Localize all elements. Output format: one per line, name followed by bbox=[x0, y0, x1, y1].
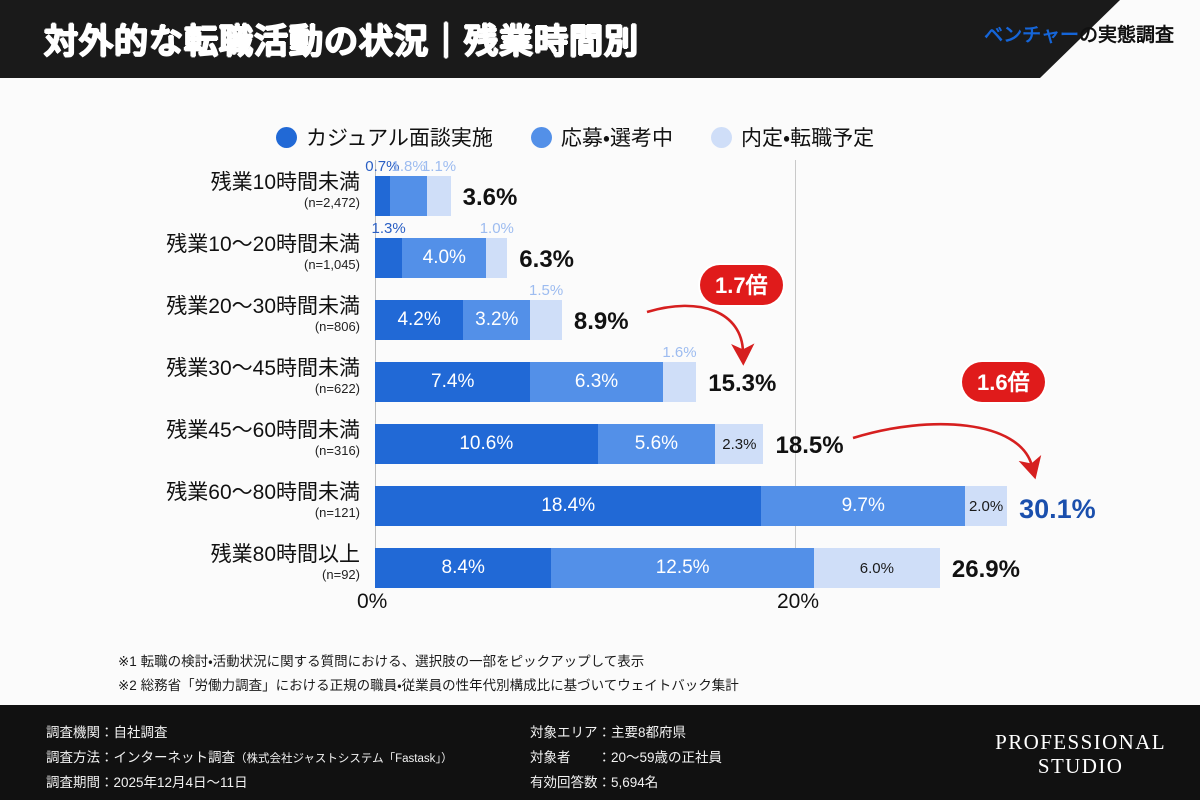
legend-dot-icon bbox=[711, 127, 732, 148]
legend-dot-icon bbox=[531, 127, 552, 148]
bar-segment[interactable]: 4.0% bbox=[402, 238, 486, 278]
footnotes: ※1 転職の検討・活動状況に関する質問における、選択肢の一部をピックアップして表… bbox=[118, 650, 739, 697]
category-label: 残業30〜45時間未満(n=622) bbox=[60, 358, 360, 396]
bar-segment[interactable]: 1.0% bbox=[486, 238, 507, 278]
category-sample-size: (n=1,045) bbox=[60, 258, 360, 272]
footnote: ※1 転職の検討・活動状況に関する質問における、選択肢の一部をピックアップして表… bbox=[118, 650, 739, 674]
bar-segment[interactable]: 2.3% bbox=[715, 424, 763, 464]
bar-segment[interactable]: 2.0% bbox=[965, 486, 1007, 526]
category-label: 残業60〜80時間未満(n=121) bbox=[60, 482, 360, 520]
legend-dot-icon bbox=[276, 127, 297, 148]
bar-row: 10.6%5.6%2.3%18.5% bbox=[375, 408, 1135, 470]
category-label-text: 残業30〜45時間未満 bbox=[60, 358, 360, 380]
category-sample-size: (n=806) bbox=[60, 320, 360, 334]
stacked-bar[interactable]: 7.4%6.3%1.6% bbox=[375, 362, 696, 402]
footer-info-row: 調査機関：自社調査 bbox=[46, 721, 453, 746]
bar-segment[interactable]: 9.7% bbox=[761, 486, 965, 526]
footer-info-key: 調査期間： bbox=[46, 775, 114, 790]
category-sample-size: (n=92) bbox=[60, 568, 360, 582]
footnote: ※2 総務省「労働力調査」における正規の職員・従業員の性年代別構成比に基づいてウ… bbox=[118, 674, 739, 698]
bar-row: 0.7%1.8%1.1%3.6% bbox=[375, 160, 1135, 222]
footer-info-row: 有効回答数：5,694名 bbox=[530, 771, 722, 796]
bar-total-label: 30.1% bbox=[1019, 494, 1096, 525]
category-label: 残業20〜30時間未満(n=806) bbox=[60, 296, 360, 334]
bar-segment[interactable]: 18.4% bbox=[375, 486, 761, 526]
category-sample-size: (n=121) bbox=[60, 506, 360, 520]
bar-segment[interactable]: 5.6% bbox=[598, 424, 716, 464]
category-label: 残業80時間以上(n=92) bbox=[60, 544, 360, 582]
footer-left-column: 調査機関：自社調査調査方法：インターネット調査（株式会社ジャストシステム「Fas… bbox=[46, 721, 453, 796]
category-label: 残業10〜20時間未満(n=1,045) bbox=[60, 234, 360, 272]
page-title: 対外的な転職活動の状況｜残業時間別 bbox=[44, 14, 639, 63]
footer-info-value: 主要8都府県 bbox=[611, 725, 686, 740]
infographic-page: 対外的な転職活動の状況｜残業時間別 ベンチャーの実態調査 カジュアル面談実施応募… bbox=[0, 0, 1200, 800]
legend-item: カジュアル面談実施 bbox=[276, 122, 493, 152]
category-sample-size: (n=2,472) bbox=[60, 196, 360, 210]
stacked-bar[interactable]: 18.4%9.7%2.0% bbox=[375, 486, 1007, 526]
bar-segment[interactable]: 12.5% bbox=[551, 548, 814, 588]
callout-badge-1: 1.7倍 bbox=[700, 265, 783, 305]
brand-logo-line2: STUDIO bbox=[995, 755, 1166, 779]
brand-logo-line1: PROFESSIONAL bbox=[995, 731, 1166, 755]
footer-band: 調査機関：自社調査調査方法：インターネット調査（株式会社ジャストシステム「Fas… bbox=[0, 705, 1200, 800]
footer-info-key: 対象者 ： bbox=[530, 750, 611, 765]
footer-info-value: 2025年12月4日〜11日 bbox=[114, 775, 248, 790]
bar-total-label: 18.5% bbox=[776, 432, 844, 460]
footer-info-value: 20〜59歳の正社員 bbox=[611, 750, 722, 765]
category-sample-size: (n=316) bbox=[60, 444, 360, 458]
bar-segment[interactable]: 6.0% bbox=[814, 548, 940, 588]
category-label-text: 残業45〜60時間未満 bbox=[60, 420, 360, 442]
bar-total-label: 6.3% bbox=[519, 246, 574, 274]
footer-info-value: インターネット調査 bbox=[114, 750, 236, 765]
bar-segment[interactable]: 1.6% bbox=[663, 362, 697, 402]
footer-info-value: 自社調査 bbox=[114, 725, 168, 740]
footer-info-key: 対象エリア： bbox=[530, 725, 611, 740]
header-subtitle-highlight: ベンチャー bbox=[984, 25, 1079, 46]
bar-segment[interactable]: 1.1% bbox=[427, 176, 450, 216]
stacked-bar[interactable]: 8.4%12.5%6.0% bbox=[375, 548, 940, 588]
bar-total-label: 3.6% bbox=[463, 184, 518, 212]
category-label: 残業45〜60時間未満(n=316) bbox=[60, 420, 360, 458]
legend-label: カジュアル面談実施 bbox=[306, 122, 493, 152]
footer-info-row: 調査方法：インターネット調査（株式会社ジャストシステム「Fastask」） bbox=[46, 746, 453, 771]
bar-segment[interactable]: 1.5% bbox=[530, 300, 562, 340]
x-axis-tick-label: 0% bbox=[357, 590, 387, 614]
footer-info-value: 5,694名 bbox=[611, 775, 658, 790]
footer-info-key: 調査方法： bbox=[46, 750, 114, 765]
bar-segment[interactable]: 8.4% bbox=[375, 548, 551, 588]
bar-total-label: 8.9% bbox=[574, 308, 629, 336]
legend-label: 応募・選考中 bbox=[561, 122, 673, 152]
x-axis-tick-label: 20% bbox=[777, 590, 819, 614]
category-label-text: 残業60〜80時間未満 bbox=[60, 482, 360, 504]
callout-badge-2: 1.6倍 bbox=[962, 362, 1045, 402]
bar-total-label: 15.3% bbox=[708, 370, 776, 398]
footer-mid-column: 対象エリア：主要8都府県対象者 ：20〜59歳の正社員有効回答数：5,694名 bbox=[530, 721, 722, 796]
footer-info-row: 対象エリア：主要8都府県 bbox=[530, 721, 722, 746]
legend-item: 内定・転職予定 bbox=[711, 122, 874, 152]
category-label-text: 残業10時間未満 bbox=[60, 172, 360, 194]
stacked-bar[interactable]: 10.6%5.6%2.3% bbox=[375, 424, 763, 464]
footer-info-row: 対象者 ：20〜59歳の正社員 bbox=[530, 746, 722, 771]
footer-info-sub: （株式会社ジャストシステム「Fastask」） bbox=[235, 753, 453, 765]
legend-item: 応募・選考中 bbox=[531, 122, 673, 152]
legend-label: 内定・転職予定 bbox=[741, 122, 874, 152]
footer-info-row: 調査期間：2025年12月4日〜11日 bbox=[46, 771, 453, 796]
footer-info-key: 調査機関： bbox=[46, 725, 114, 740]
category-label-text: 残業10〜20時間未満 bbox=[60, 234, 360, 256]
bar-segment[interactable]: 6.3% bbox=[530, 362, 662, 402]
bar-segment[interactable]: 4.2% bbox=[375, 300, 463, 340]
bar-row: 8.4%12.5%6.0%26.9% bbox=[375, 532, 1135, 594]
bar-total-label: 26.9% bbox=[952, 556, 1020, 584]
header-subtitle: ベンチャーの実態調査 bbox=[984, 20, 1174, 47]
bar-segment[interactable]: 10.6% bbox=[375, 424, 598, 464]
stacked-bar[interactable]: 0.7%1.8%1.1% bbox=[375, 176, 451, 216]
chart-legend: カジュアル面談実施応募・選考中内定・転職予定 bbox=[276, 122, 874, 152]
footer-info-key: 有効回答数： bbox=[530, 775, 611, 790]
stacked-bar[interactable]: 1.3%4.0%1.0% bbox=[375, 238, 507, 278]
header-subtitle-rest: の実態調査 bbox=[1079, 25, 1174, 46]
stacked-bar[interactable]: 4.2%3.2%1.5% bbox=[375, 300, 562, 340]
bar-segment[interactable]: 7.4% bbox=[375, 362, 530, 402]
category-label: 残業10時間未満(n=2,472) bbox=[60, 172, 360, 210]
bar-segment[interactable]: 3.2% bbox=[463, 300, 530, 340]
brand-logo: PROFESSIONAL STUDIO bbox=[995, 731, 1166, 778]
category-label-text: 残業20〜30時間未満 bbox=[60, 296, 360, 318]
bar-segment[interactable]: 1.3% bbox=[375, 238, 402, 278]
bar-row: 18.4%9.7%2.0%30.1% bbox=[375, 470, 1135, 532]
category-label-text: 残業80時間以上 bbox=[60, 544, 360, 566]
category-sample-size: (n=622) bbox=[60, 382, 360, 396]
